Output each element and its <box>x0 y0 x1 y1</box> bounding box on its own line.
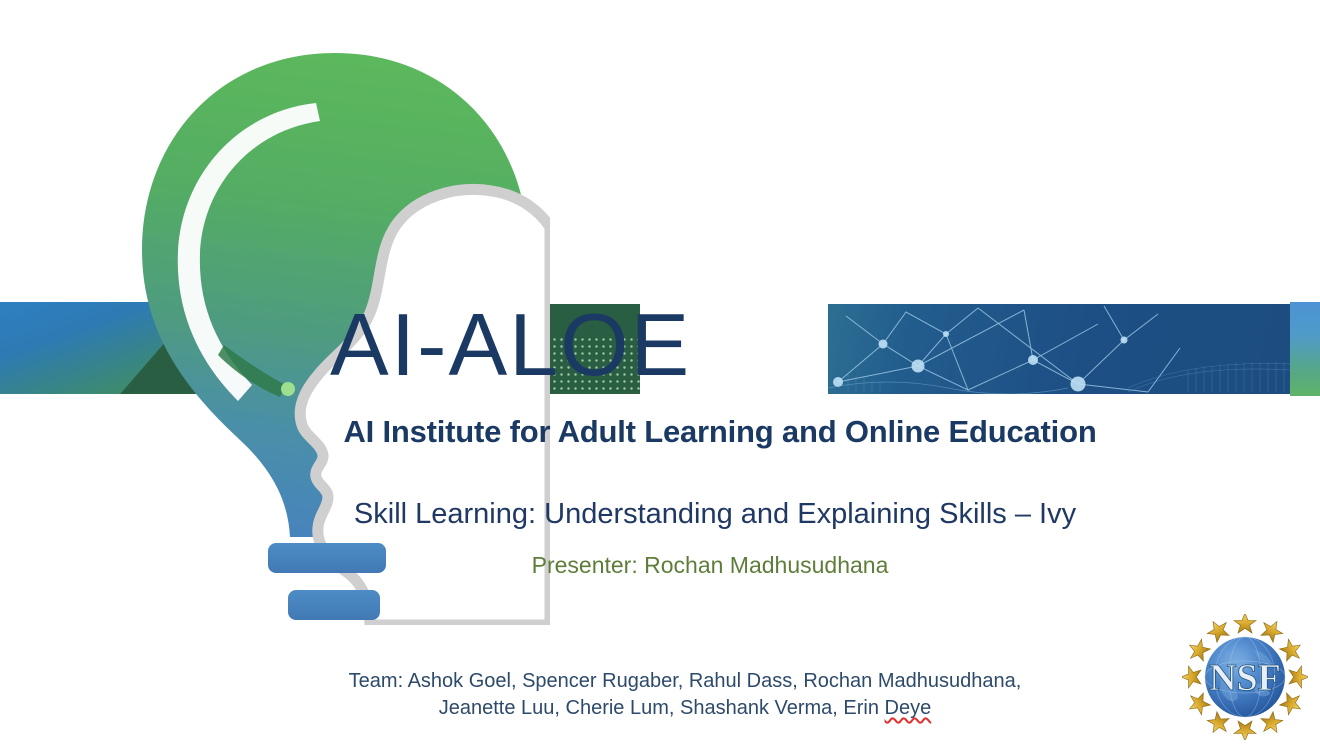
slide-title: Skill Learning: Understanding and Explai… <box>0 498 1320 531</box>
nsf-label: NSF <box>1209 657 1281 699</box>
band-right-gradient-cap <box>1290 302 1320 396</box>
nsf-seal-icon: NSF <box>1182 614 1308 740</box>
bulb-base-bar-2 <box>288 590 380 620</box>
team-misspelled-name: Deye <box>885 697 932 719</box>
institute-tagline: AI Institute for Adult Learning and Onli… <box>0 414 1320 450</box>
team-credits: Team: Ashok Goel, Spencer Rugaber, Rahul… <box>0 668 1320 722</box>
team-line-2-text: Jeanette Luu, Cherie Lum, Shashank Verma… <box>439 697 885 719</box>
team-line-2: Jeanette Luu, Cherie Lum, Shashank Verma… <box>50 695 1320 722</box>
band-network-graphic <box>828 304 1290 394</box>
wordmark: AI-ALOE <box>330 296 840 394</box>
wordmark-text: AI-ALOE <box>330 301 691 389</box>
network-nodes-icon <box>828 304 1290 394</box>
team-line-1: Team: Ashok Goel, Spencer Rugaber, Rahul… <box>50 668 1320 695</box>
presenter-line: Presenter: Rochan Madhusudhana <box>0 552 1320 579</box>
presentation-slide: AI-ALOE AI Institute for Adult Learning … <box>0 0 1320 745</box>
